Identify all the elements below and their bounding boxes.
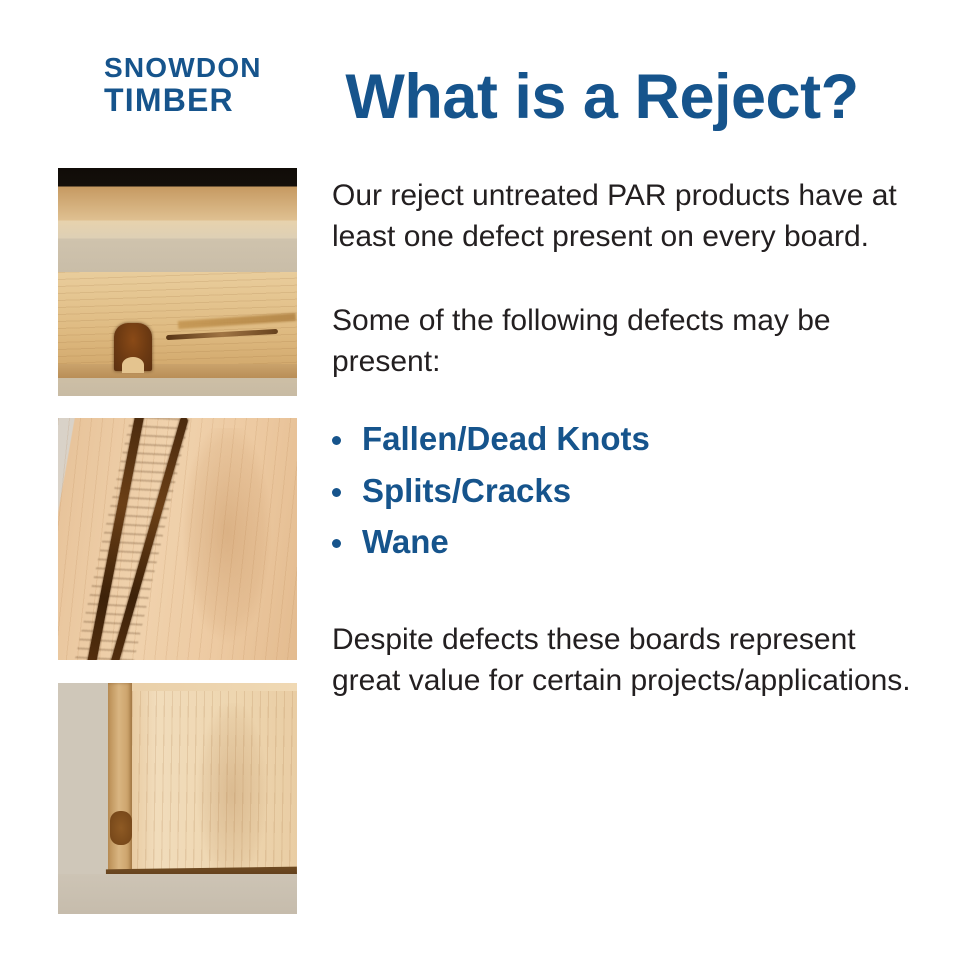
page-title: What is a Reject? [332,64,912,131]
photo-splits-cracks [58,418,297,660]
edge-knot [110,811,132,845]
defect-list: Fallen/Dead Knots Splits/Cracks Wane [332,418,912,563]
grain-figure [167,428,297,658]
dead-knot [114,323,152,371]
defect-label: Fallen/Dead Knots [362,420,650,457]
photo-dead-knot-image [58,168,297,396]
list-item: Splits/Cracks [332,470,912,512]
body-copy: Our reject untreated PAR products have a… [332,175,912,702]
list-item: Wane [332,521,912,563]
logo-line-timber: TIMBER [104,84,304,116]
surface-shadow [58,874,297,914]
wane-edge [108,683,132,874]
defect-label: Splits/Cracks [362,472,571,509]
photo-wane-image [58,683,297,914]
paragraph-closing: Despite defects these boards represent g… [332,619,912,702]
photo-wane [58,683,297,914]
board-lower-edge [58,364,297,378]
paragraph-lead-in: Some of the following defects may be pre… [332,300,912,383]
photo-splits-cracks-image [58,418,297,660]
logo-line-snowdon: SNOWDON [104,54,304,82]
paragraph-intro: Our reject untreated PAR products have a… [332,175,912,258]
poster-canvas: SNOWDON TIMBER [0,0,960,960]
list-item: Fallen/Dead Knots [332,418,912,460]
defect-label: Wane [362,523,449,560]
brand-logo: SNOWDON TIMBER [104,54,304,116]
photo-dead-knot [58,168,297,396]
content-column: What is a Reject? Our reject untreated P… [332,64,912,702]
grain-figure [177,703,287,883]
